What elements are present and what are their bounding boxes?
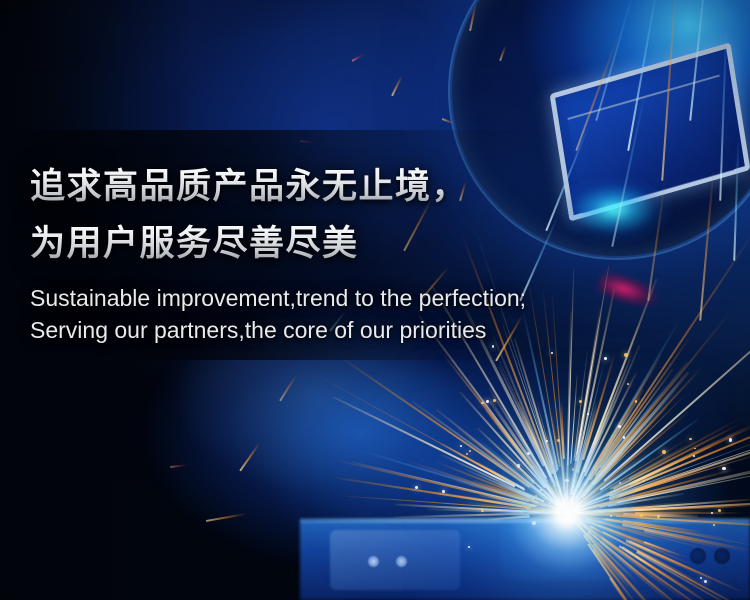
subhead-en-line-1: Sustainable improvement,trend to the per… [30,282,730,314]
headline-cn-line-2: 为用户服务尽善尽美 [30,215,730,272]
subhead-en: Sustainable improvement,trend to the per… [30,282,730,346]
welding-hero-banner: 追求高品质产品永无止境， 为用户服务尽善尽美 Sustainable impro… [0,0,750,600]
hero-copy: 追求高品质产品永无止境， 为用户服务尽善尽美 Sustainable impro… [30,158,730,346]
headline-cn-line-1: 追求高品质产品永无止境， [30,158,730,215]
subhead-en-line-2: Serving our partners,the core of our pri… [30,314,730,346]
